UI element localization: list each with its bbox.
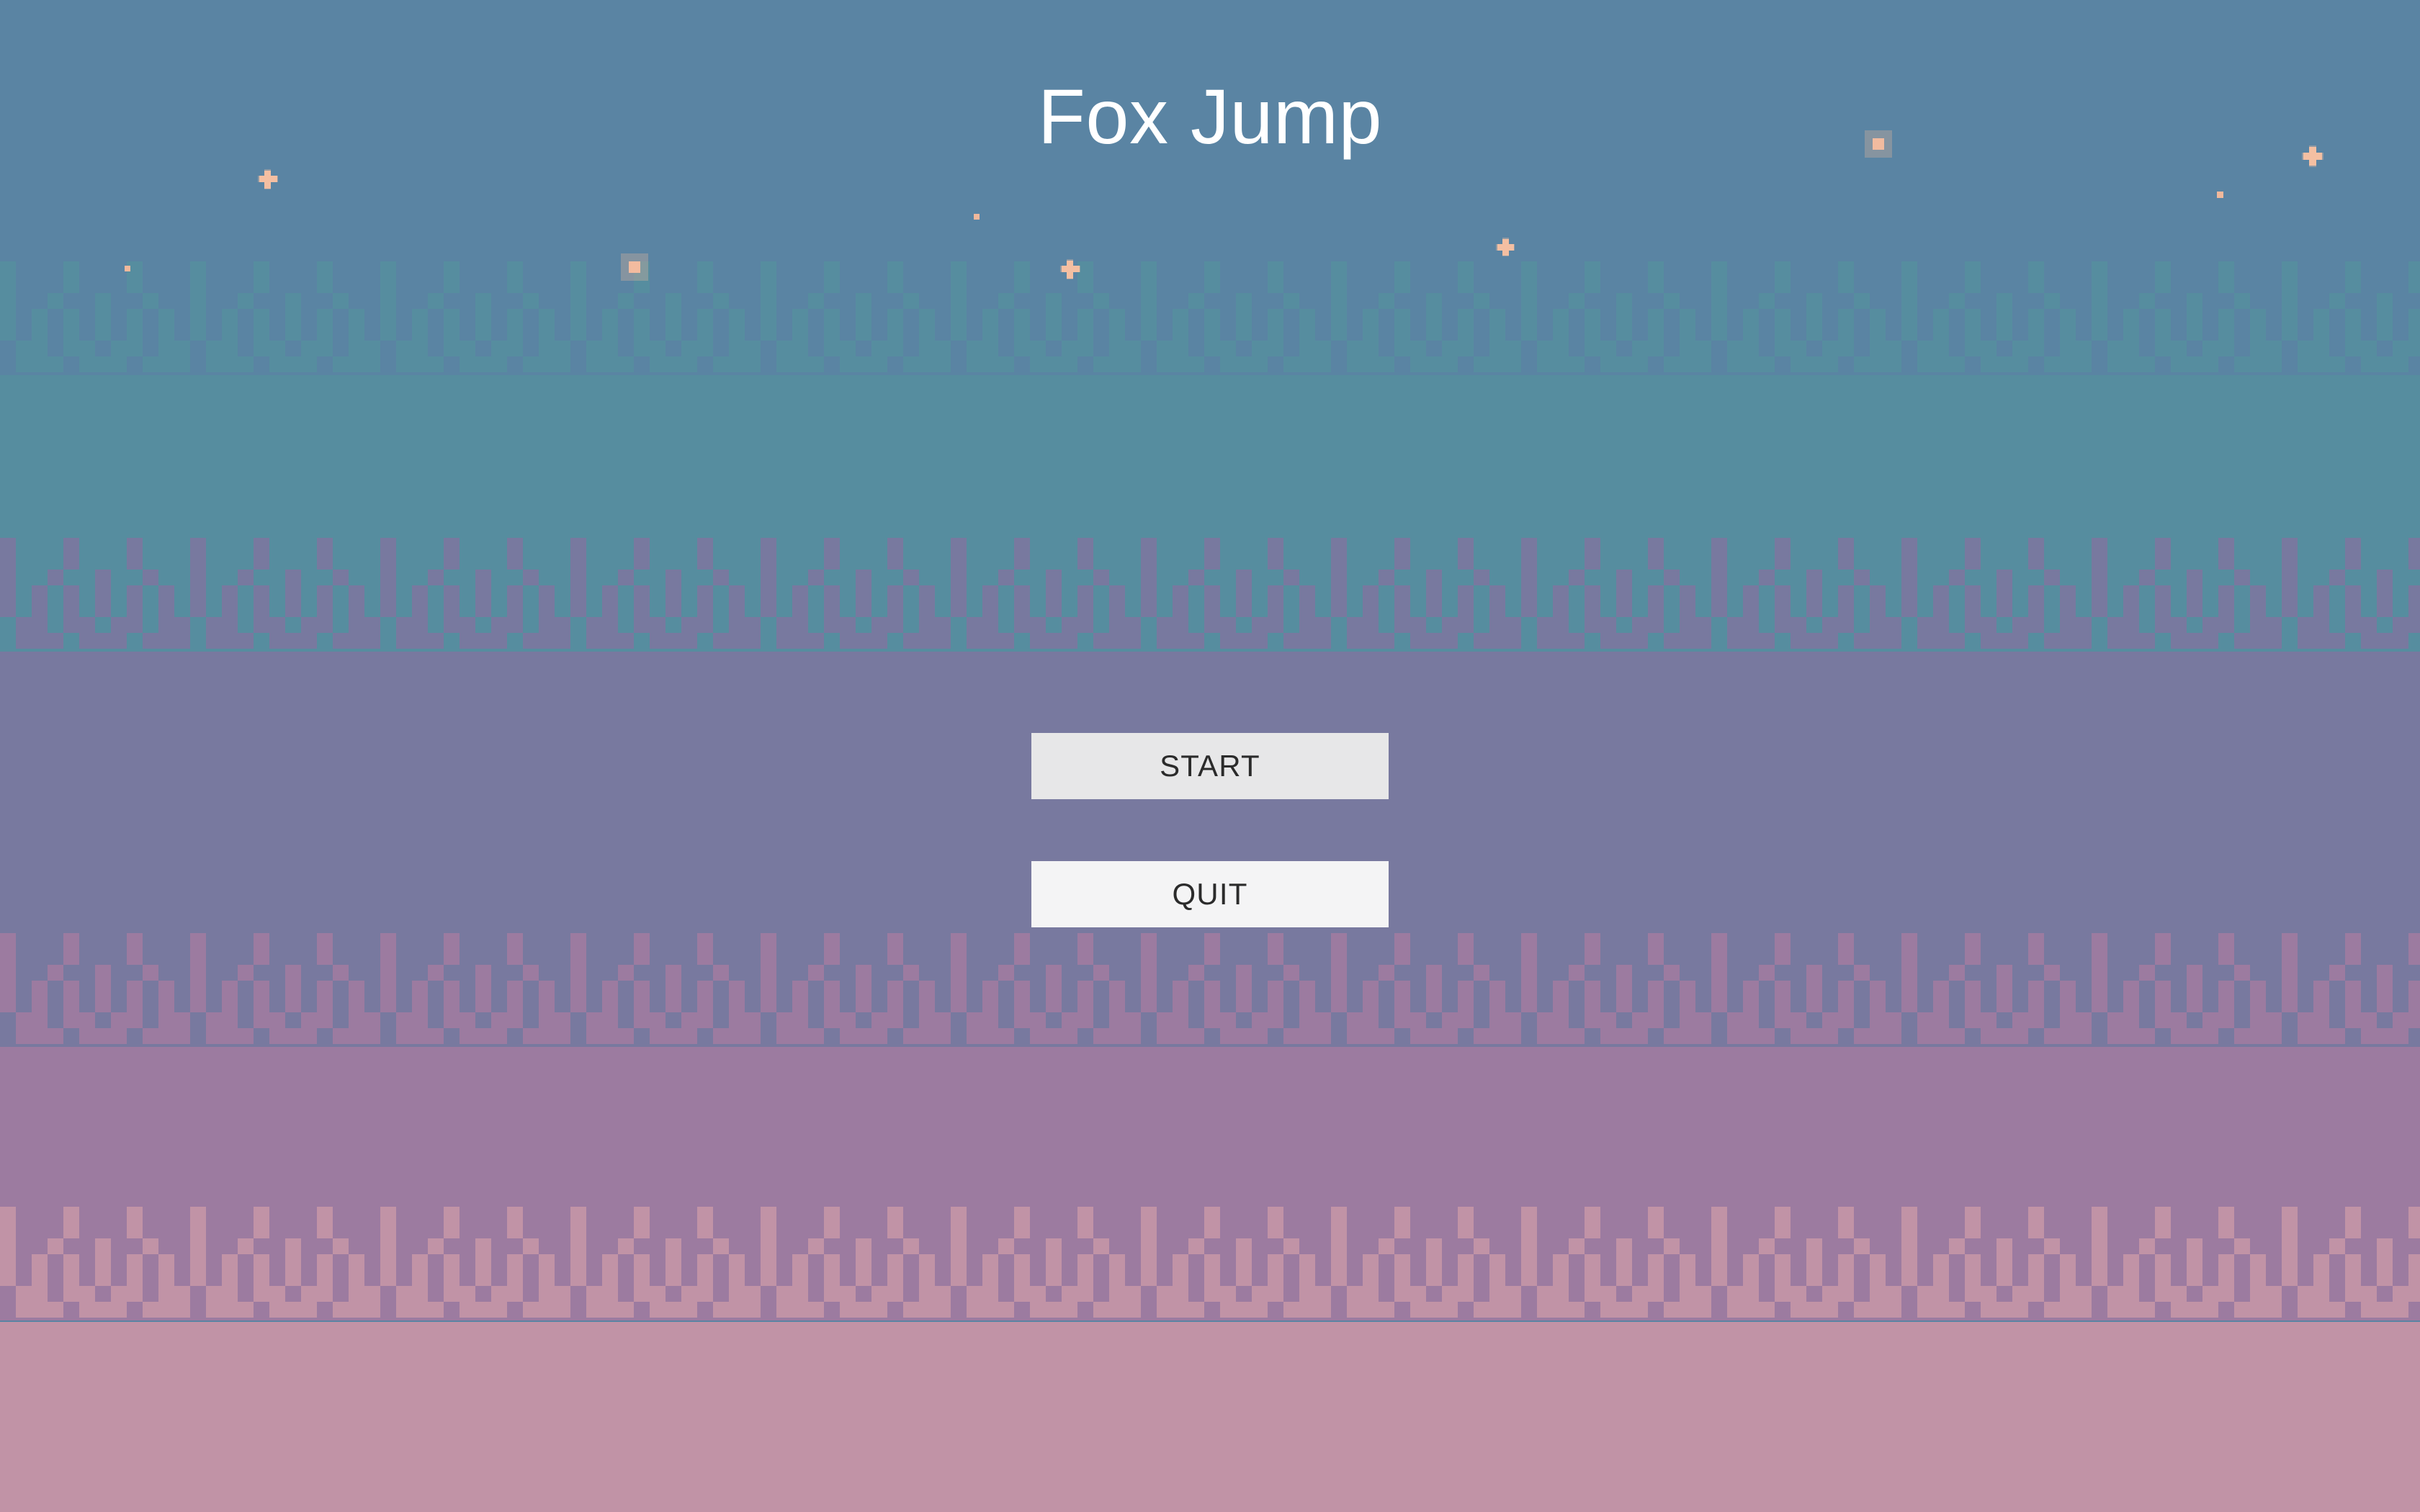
page-title: Fox Jump [0, 78, 2420, 156]
dither-row [0, 356, 2420, 372]
star-dot-icon [125, 266, 130, 271]
star-plus-icon [258, 169, 278, 189]
dither-row [0, 933, 2420, 949]
dither-row [0, 965, 2420, 981]
dither-row [0, 1028, 2420, 1044]
dither-row [0, 996, 2420, 1012]
dither-row [0, 341, 2420, 356]
dither-zone-2 [0, 538, 2420, 652]
dither-row [0, 538, 2420, 554]
dither-row [0, 554, 2420, 570]
star-bar [1502, 239, 1509, 256]
dither-row [0, 617, 2420, 633]
star-bar [1067, 261, 1073, 279]
dither-zone-3 [0, 933, 2420, 1047]
dither-row [0, 949, 2420, 965]
star-dot-icon [974, 214, 980, 220]
dither-row [0, 1223, 2420, 1238]
dither-row [0, 1302, 2420, 1318]
quit-button[interactable]: QUIT [1031, 861, 1389, 927]
dither-row [0, 1012, 2420, 1028]
dither-row [0, 633, 2420, 649]
dither-row [0, 601, 2420, 617]
dither-row [0, 1254, 2420, 1270]
sky-band-4 [0, 1045, 2420, 1208]
dither-zone-1 [0, 261, 2420, 375]
game-canvas: Fox Jump START QUIT [0, 0, 2420, 1512]
dither-row [0, 277, 2420, 293]
dither-row [0, 309, 2420, 325]
star-square-icon [629, 261, 640, 273]
dither-row [0, 570, 2420, 585]
star-plus-icon [1496, 238, 1515, 256]
dither-row [0, 1207, 2420, 1223]
dither-row [0, 585, 2420, 601]
dither-row [0, 1238, 2420, 1254]
dither-row [0, 261, 2420, 277]
sky-band-5 [0, 1322, 2420, 1512]
dither-row [0, 981, 2420, 996]
main-menu: START QUIT [1031, 733, 1389, 927]
star-plus-icon [1060, 259, 1080, 279]
sky-band-2 [0, 374, 2420, 539]
dither-row [0, 293, 2420, 309]
star-bar [264, 171, 271, 189]
dither-row [0, 1286, 2420, 1302]
dither-zone-4 [0, 1207, 2420, 1320]
start-button[interactable]: START [1031, 733, 1389, 799]
star-dot-icon [2217, 192, 2223, 198]
dither-row [0, 1270, 2420, 1286]
dither-row [0, 325, 2420, 341]
